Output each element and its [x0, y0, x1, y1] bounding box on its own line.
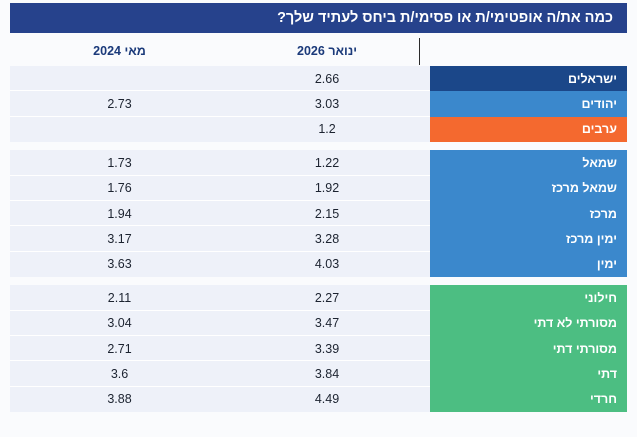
table-row[interactable]: 2.66ישראלים — [10, 66, 627, 91]
row-category-label: חרדי — [430, 387, 627, 412]
survey-table: כמה את/ה אופטימי/ת או פסימי/ת ביחס לעתיד… — [0, 0, 637, 437]
row-category-label: חילוני — [430, 285, 627, 310]
chart-title-bar: כמה את/ה אופטימי/ת או פסימי/ת ביחס לעתיד… — [10, 3, 627, 33]
religiosity-group: 2.112.27חילוני3.043.47מסורתי לא דתי2.713… — [10, 285, 627, 412]
row-category-label: מרכז — [430, 201, 627, 226]
table-row[interactable]: 3.63.84דתי — [10, 361, 627, 386]
cell-value-old: 2.73 — [22, 91, 217, 116]
table-row[interactable]: 2.713.39מסורתי דתי — [10, 336, 627, 361]
cell-value-old: 1.76 — [22, 176, 217, 201]
cell-value-recent: 2.27 — [227, 285, 427, 310]
table-row[interactable]: 1.731.22שמאל — [10, 150, 627, 175]
row-category-label: שמאל מרכז — [430, 176, 627, 201]
cell-value-recent: 1.92 — [227, 176, 427, 201]
row-category-label: שמאל — [430, 150, 627, 175]
cell-value-recent: 4.03 — [227, 252, 427, 277]
row-category-label: מסורתי לא דתי — [430, 311, 627, 336]
cell-value-old — [22, 66, 217, 91]
table-body: 2.66ישראלים2.733.03יהודים1.2ערבים1.731.2… — [10, 66, 627, 420]
cell-value-recent: 2.66 — [227, 66, 427, 91]
table-row[interactable]: 2.112.27חילוני — [10, 285, 627, 310]
cell-value-recent: 3.84 — [227, 361, 427, 386]
cell-value-recent: 3.39 — [227, 336, 427, 361]
column-divider — [419, 38, 420, 65]
page-title: כמה את/ה אופטימי/ת או פסימי/ת ביחס לעתיד… — [277, 11, 613, 26]
column-header-recent: ינואר 2026 — [227, 36, 427, 66]
cell-value-recent: 3.28 — [227, 226, 427, 251]
cell-value-old: 3.6 — [22, 361, 217, 386]
cell-value-old: 3.04 — [22, 311, 217, 336]
table-row[interactable]: 1.2ערבים — [10, 117, 627, 142]
cell-value-recent: 3.03 — [227, 91, 427, 116]
cell-value-recent: 1.22 — [227, 150, 427, 175]
cell-value-recent: 1.2 — [227, 117, 427, 142]
cell-value-old: 1.94 — [22, 201, 217, 226]
cell-value-old: 3.17 — [22, 226, 217, 251]
row-category-label: ישראלים — [430, 66, 627, 91]
table-row[interactable]: 2.733.03יהודים — [10, 91, 627, 116]
table-row[interactable]: 3.634.03ימין — [10, 252, 627, 277]
cell-value-old: 1.73 — [22, 150, 217, 175]
row-category-label: ימין מרכז — [430, 226, 627, 251]
table-row[interactable]: 3.043.47מסורתי לא דתי — [10, 311, 627, 336]
cell-value-old: 3.63 — [22, 252, 217, 277]
cell-value-old: 2.11 — [22, 285, 217, 310]
table-row[interactable]: 3.173.28ימין מרכז — [10, 226, 627, 251]
cell-value-recent: 4.49 — [227, 387, 427, 412]
cell-value-recent: 2.15 — [227, 201, 427, 226]
table-row[interactable]: 3.884.49חרדי — [10, 387, 627, 412]
cell-value-old: 2.71 — [22, 336, 217, 361]
cell-value-recent: 3.47 — [227, 311, 427, 336]
population-group: 2.66ישראלים2.733.03יהודים1.2ערבים — [10, 66, 627, 142]
column-header-old: מאי 2024 — [22, 36, 217, 66]
table-row[interactable]: 1.942.15מרכז — [10, 201, 627, 226]
column-header-row: ינואר 2026 מאי 2024 — [10, 36, 627, 66]
row-category-label: דתי — [430, 361, 627, 386]
cell-value-old — [22, 117, 217, 142]
cell-value-old: 3.88 — [22, 387, 217, 412]
row-category-label: יהודים — [430, 91, 627, 116]
table-row[interactable]: 1.761.92שמאל מרכז — [10, 176, 627, 201]
political-group: 1.731.22שמאל1.761.92שמאל מרכז1.942.15מרכ… — [10, 150, 627, 277]
row-category-label: ימין — [430, 252, 627, 277]
row-category-label: מסורתי דתי — [430, 336, 627, 361]
row-category-label: ערבים — [430, 117, 627, 142]
